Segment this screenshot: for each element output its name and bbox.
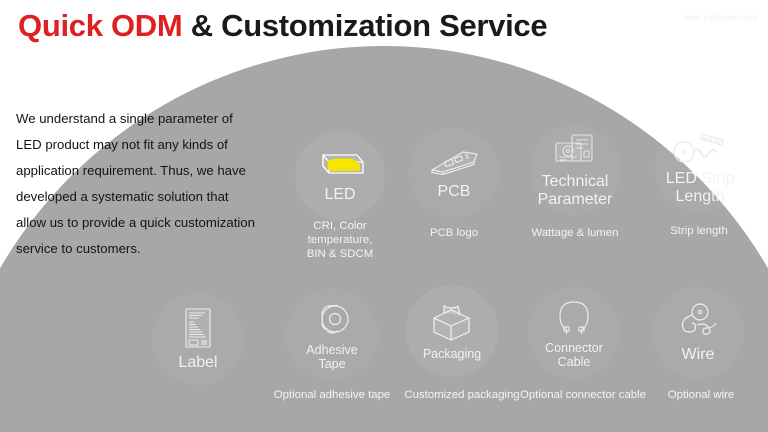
dome-base-strip xyxy=(0,408,768,432)
adhesive-tape-icon xyxy=(311,300,353,340)
feature-node-adhesive-tape[interactable]: Adhesive Tape xyxy=(286,289,378,381)
feature-caption-technical-parameter: Wattage & lumen xyxy=(519,226,631,240)
feature-node-technical-parameter[interactable]: Technical Parameter xyxy=(530,125,620,215)
wire-coil-icon xyxy=(674,303,722,343)
feature-caption-adhesive-tape: Optional adhesive tape xyxy=(263,388,401,402)
technical-parameter-icon xyxy=(552,132,598,170)
feature-node-led[interactable]: LED xyxy=(295,131,385,221)
feature-caption-led: CRI, Color temperature, BIN & SDCM xyxy=(287,219,393,261)
feature-caption-pcb: PCB logo xyxy=(404,226,504,240)
feature-label-wire: Wire xyxy=(682,346,715,364)
feature-node-packaging[interactable]: Packaging xyxy=(406,285,498,377)
intro-paragraph: We understand a single parameter of LED … xyxy=(16,106,256,262)
feature-node-pcb[interactable]: PCB xyxy=(409,128,499,218)
connector-cable-icon xyxy=(553,298,595,338)
feature-node-label[interactable]: Label xyxy=(152,293,244,385)
feature-node-led-strip-length[interactable]: LED Strip Length xyxy=(655,123,745,213)
page-title-accent: Quick ODM xyxy=(18,8,182,43)
feature-label-adhesive-tape: Adhesive Tape xyxy=(306,343,357,371)
pcb-board-icon xyxy=(427,146,481,180)
feature-bubble-led-strip-length[interactable]: LED Strip Length xyxy=(655,123,745,213)
feature-bubble-connector-cable[interactable]: Connector Cable xyxy=(528,287,620,379)
page-title-rest: & Customization Service xyxy=(182,8,547,43)
feature-bubble-packaging[interactable]: Packaging xyxy=(406,285,498,377)
feature-label-technical-parameter: Technical Parameter xyxy=(538,173,613,209)
feature-bubble-adhesive-tape[interactable]: Adhesive Tape xyxy=(286,289,378,381)
feature-node-wire[interactable]: Wire xyxy=(652,287,744,379)
packaging-box-icon xyxy=(428,302,476,344)
feature-bubble-wire[interactable]: Wire xyxy=(652,287,744,379)
label-document-icon xyxy=(181,307,215,351)
feature-bubble-label[interactable]: Label xyxy=(152,293,244,385)
feature-label-led-strip-length: LED Strip Length xyxy=(666,170,734,206)
feature-bubble-technical-parameter[interactable]: Technical Parameter xyxy=(530,125,620,215)
feature-label-connector-cable: Connector Cable xyxy=(545,341,603,369)
led-strip-length-icon xyxy=(671,131,729,167)
feature-caption-connector-cable: Optional connector cable xyxy=(508,388,658,402)
feature-label-packaging: Packaging xyxy=(423,347,481,361)
led-chip-icon xyxy=(314,149,366,183)
feature-label-pcb: PCB xyxy=(438,183,471,201)
feature-label-led: LED xyxy=(324,186,355,204)
page-title: Quick ODM & Customization Service xyxy=(18,8,547,44)
feature-label-label: Label xyxy=(178,354,217,372)
feature-bubble-pcb[interactable]: PCB xyxy=(409,128,499,218)
feature-node-connector-cable[interactable]: Connector Cable xyxy=(528,287,620,379)
slide-canvas: Quick ODM & Customization Service www.my… xyxy=(0,0,768,432)
feature-bubble-led[interactable]: LED xyxy=(295,131,385,221)
feature-caption-wire: Optional wire xyxy=(650,388,752,402)
site-watermark: www.mylikeled.com xyxy=(683,13,758,22)
feature-caption-led-strip-length: Strip length xyxy=(648,224,750,238)
